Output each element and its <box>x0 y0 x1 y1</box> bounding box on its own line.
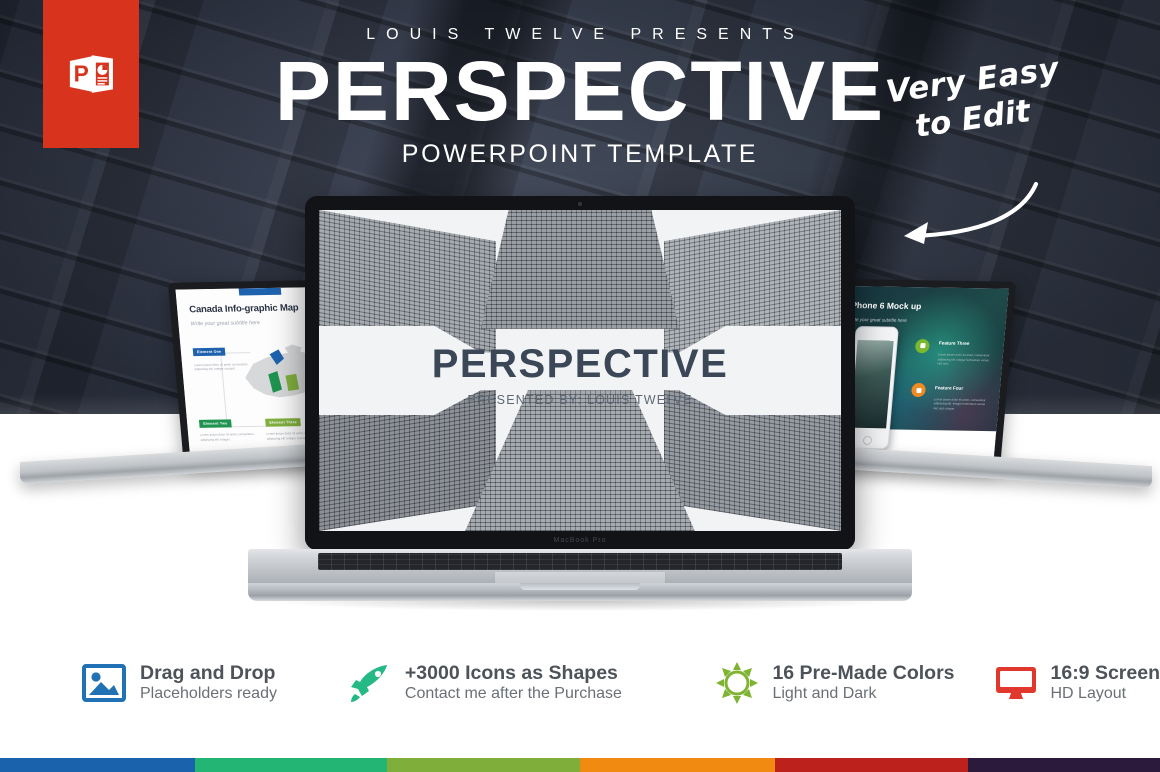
feature-subtitle-4: HD Layout <box>1051 685 1127 702</box>
feature-subtitle-1: Placeholders ready <box>140 685 277 702</box>
swatch-orange <box>580 758 775 772</box>
canada-slide-subtitle: Write your great subtitle here <box>190 320 260 327</box>
laptop-brand-label: MacBook Pro <box>553 537 606 544</box>
swatch-olive <box>387 758 580 772</box>
laptop-keyboard[interactable] <box>318 553 843 570</box>
feature-four-title: Feature Four <box>935 385 964 390</box>
canada-element-body-1: Lorem ipsum dolor sit amet, consectetur … <box>194 362 249 372</box>
iphone-home-button <box>862 436 872 445</box>
webcam-icon <box>578 202 582 206</box>
feature-item-premade-colors: 16 Pre-Made Colors Light and Dark <box>716 662 954 704</box>
building-bottom-center <box>465 387 695 531</box>
feature-item-drag-and-drop: Drag and Drop Placeholders ready <box>82 662 303 704</box>
image-placeholder-icon <box>82 664 126 702</box>
building-top-center <box>481 210 679 329</box>
feature-title-1: Drag and Drop <box>140 662 275 684</box>
feature-text-icons-as-shapes: +3000 Icons as Shapes Contact me after t… <box>405 662 673 704</box>
laptop-chin: MacBook Pro <box>305 531 855 550</box>
laptop-drop-shadow <box>268 601 892 611</box>
sun-icon <box>716 662 758 704</box>
feature-subtitle-3: Light and Dark <box>772 685 876 702</box>
feature-three-body: Lorem ipsum dolor sit amet, consectetur … <box>937 353 990 367</box>
swatch-red <box>775 758 968 772</box>
laptop-main-base <box>248 549 912 607</box>
feature-title-3: 16 Pre-Made Colors <box>772 662 954 684</box>
canada-slide-title: Canada Info-graphic Map <box>189 303 299 316</box>
powerpoint-badge: P <box>43 0 139 148</box>
laptop-lid-notch <box>520 583 640 590</box>
svg-text:P: P <box>74 60 89 86</box>
feature-text-drag-and-drop: Drag and Drop Placeholders ready <box>140 662 303 704</box>
canada-element-body-2: Lorem ipsum dolor sit amet, consectetur … <box>200 432 255 442</box>
curved-arrow-icon <box>884 172 1044 250</box>
iphone-slide-title: iPhone 6 Mock up <box>849 300 922 311</box>
feature-title-2: +3000 Icons as Shapes <box>405 662 618 684</box>
monitor-icon <box>995 665 1037 701</box>
powerpoint-logo-icon: P <box>65 48 117 100</box>
main-slide-byline: PRESENTED BY: LOUIS TWELVE <box>319 393 841 407</box>
main-slide-artwork: PERSPECTIVE PRESENTED BY: LOUIS TWELVE <box>319 210 841 531</box>
poster-canvas: P LOUIS TWELVE PRESENTS PERSPECTIVE POWE… <box>0 0 1160 772</box>
kicker-text: LOUIS TWELVE PRESENTS <box>0 26 1160 44</box>
feature-text-screen-ratio: 16:9 Screen HD Layout <box>1051 662 1160 704</box>
feature-item-icons-as-shapes: +3000 Icons as Shapes Contact me after t… <box>349 662 673 704</box>
feature-text-premade-colors: 16 Pre-Made Colors Light and Dark <box>772 662 954 704</box>
swatch-purple <box>968 758 1160 772</box>
color-swatch-strip <box>0 758 1160 772</box>
main-slide-headline: PERSPECTIVE <box>319 342 841 387</box>
laptop-main-lid: PERSPECTIVE PRESENTED BY: LOUIS TWELVE M… <box>305 196 855 550</box>
main-slide-text: PERSPECTIVE PRESENTED BY: LOUIS TWELVE <box>319 342 841 407</box>
iphone-screen <box>850 340 893 428</box>
laptop-main-screen: PERSPECTIVE PRESENTED BY: LOUIS TWELVE <box>319 210 841 531</box>
laptop-deck <box>248 549 912 583</box>
swatch-blue <box>0 758 195 772</box>
canada-element-chip-2: Element Two <box>199 419 232 428</box>
page-subtitle: POWERPOINT TEMPLATE <box>0 140 1160 169</box>
feature-three-title: Feature Three <box>939 341 970 347</box>
feature-row: Drag and Drop Placeholders ready +3000 I… <box>0 645 1160 721</box>
rocket-icon <box>349 663 391 703</box>
swatch-green <box>195 758 387 772</box>
feature-subtitle-2: Contact me after the Purchase <box>405 685 622 702</box>
iphone-slide-subtitle: Write your great subtitle here <box>847 317 907 323</box>
canada-element-chip-3: Element Three <box>265 418 301 427</box>
feature-title-4: 16:9 Screen <box>1051 662 1160 684</box>
feature-four-body: Lorem ipsum dolor sit amet, consectetur … <box>933 397 986 411</box>
canada-element-chip-1: Element One <box>193 347 226 356</box>
feature-item-screen-ratio: 16:9 Screen HD Layout <box>995 662 1160 704</box>
canada-slide-accent-bar <box>239 288 282 296</box>
